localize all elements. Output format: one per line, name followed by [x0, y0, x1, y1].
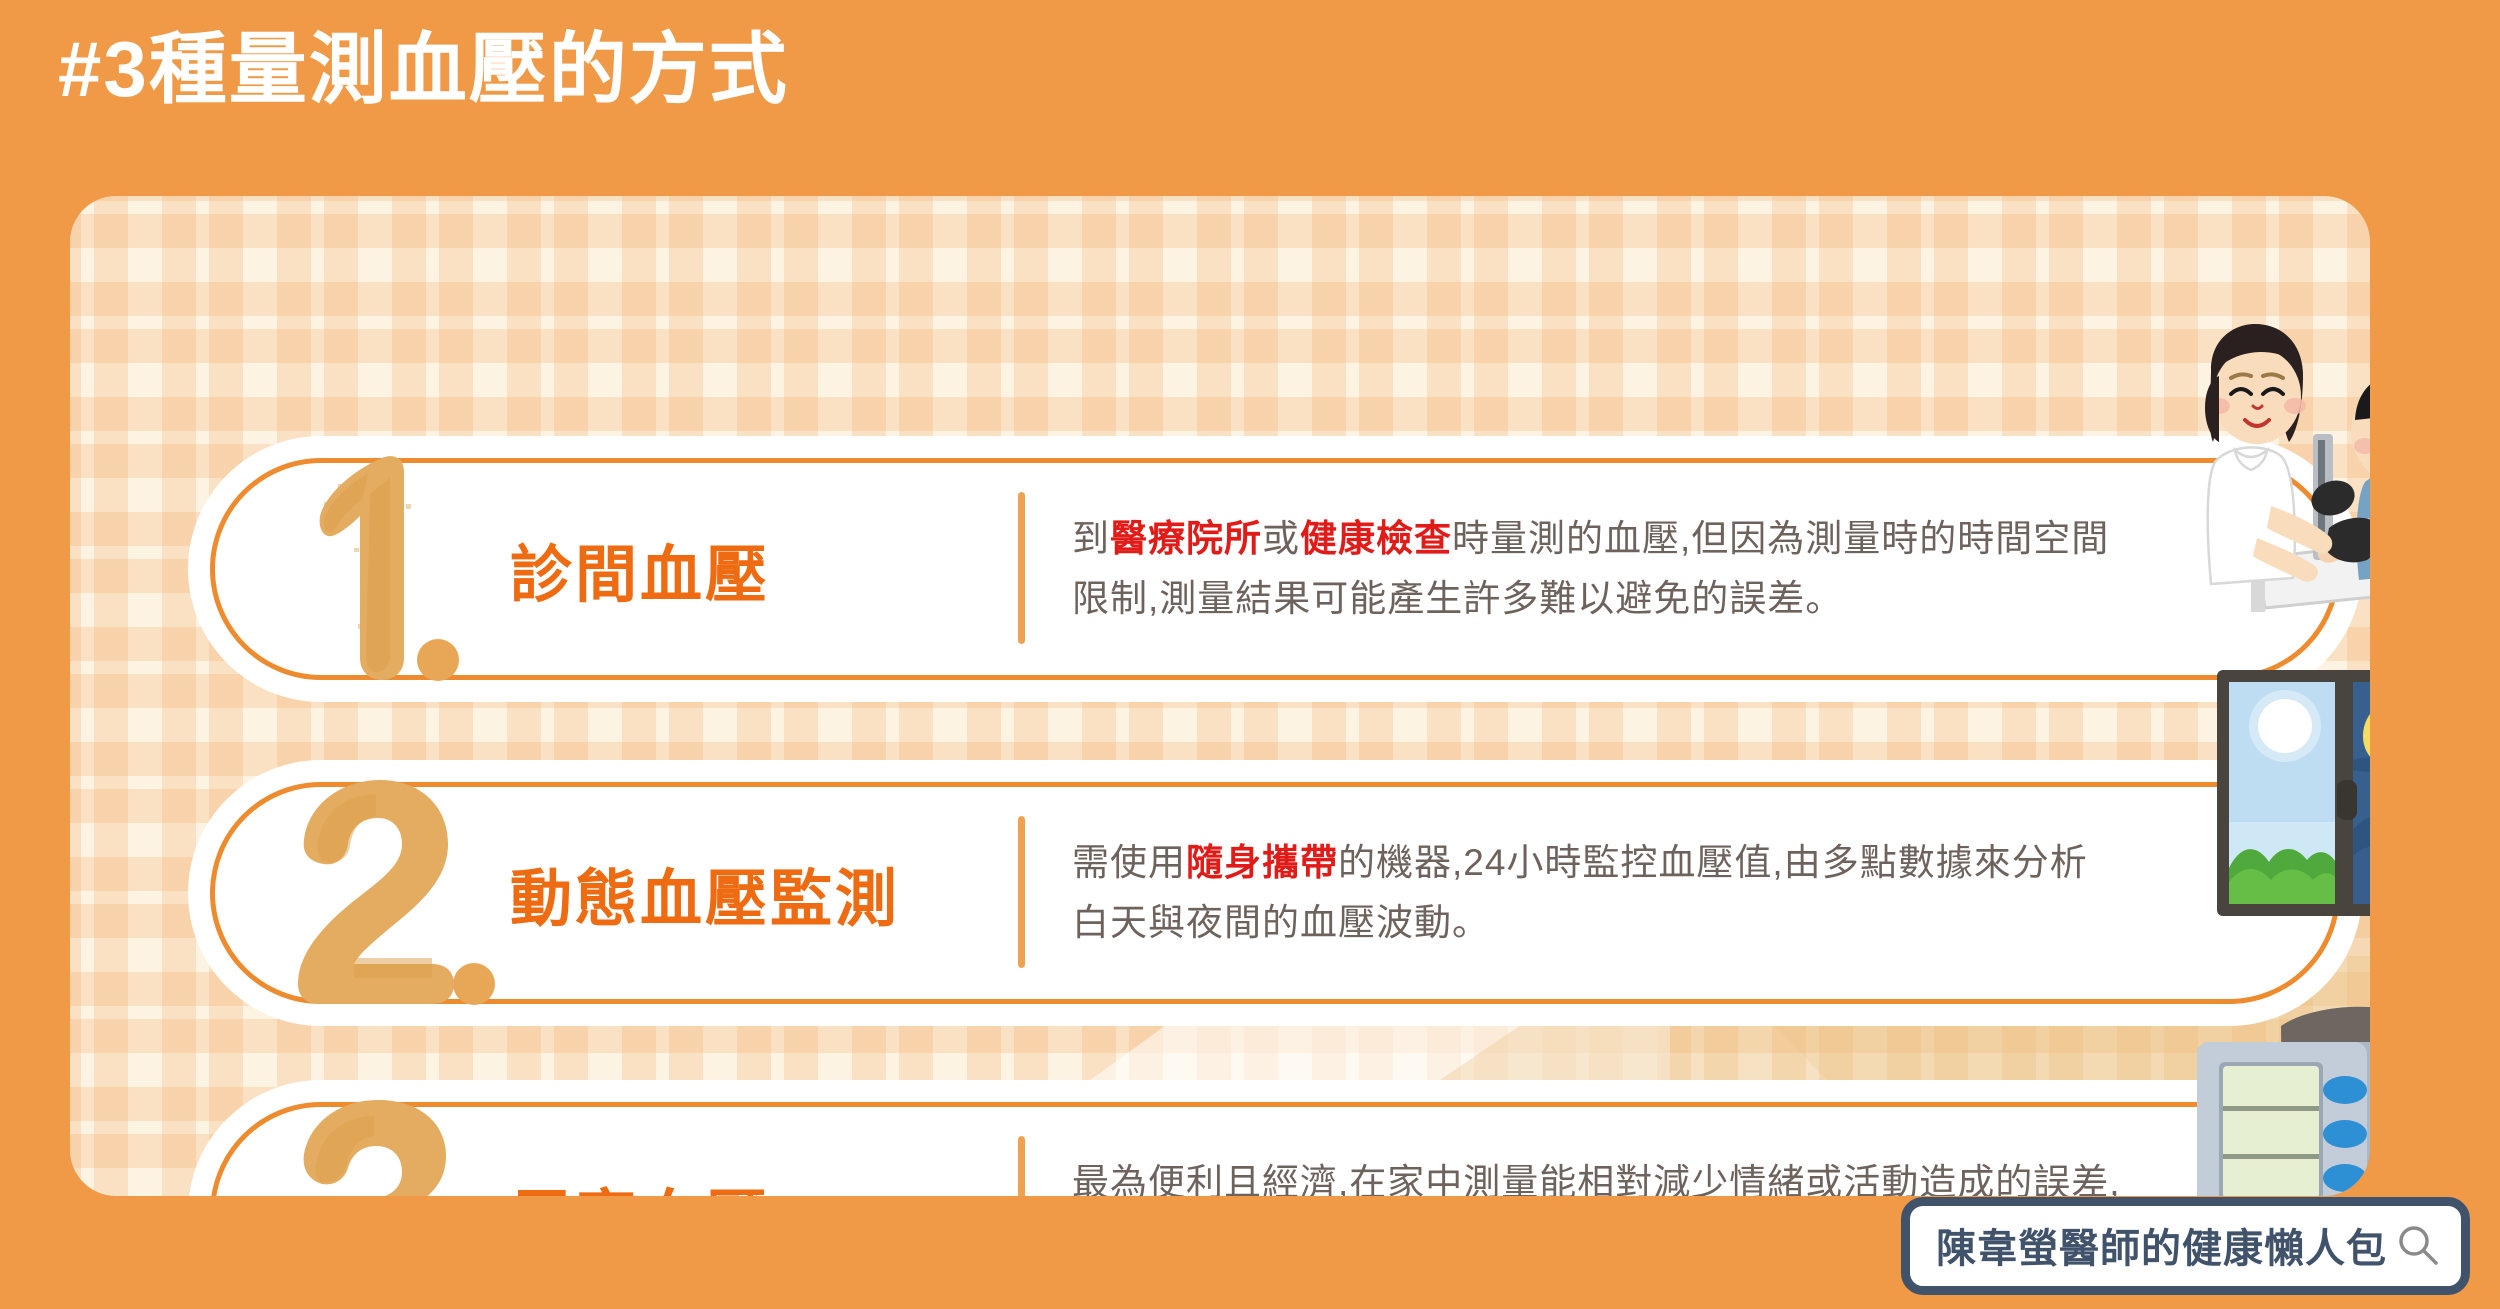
body-segment: 到: [1072, 518, 1110, 559]
card-heading-1: 診間血壓: [510, 524, 770, 614]
card-heading-2: 動態血壓監測: [510, 848, 900, 938]
footer-brand-badge[interactable]: 陳韋螢醫師的健康懶人包: [1901, 1197, 2470, 1295]
body-segment: 最為便利且經濟,在家中測量能相對減少情緒或活動造成的誤差,但要注意是否用正確的方…: [1072, 1162, 2121, 1196]
search-icon: [2397, 1224, 2439, 1266]
card-body-2: 需使用隨身攜帶的機器,24小時監控血壓值,由多點數據來分析白天與夜間的血壓波動。: [1072, 833, 2122, 953]
card-divider: [1018, 1136, 1025, 1196]
footer-brand-text: 陳韋螢醫師的健康懶人包: [1936, 1216, 2387, 1274]
card-body-3: 最為便利且經濟,在家中測量能相對減少情緒或活動造成的誤差,但要注意是否用正確的方…: [1072, 1153, 2122, 1196]
body-segment: 或: [1262, 518, 1300, 559]
card-number-1: [262, 444, 502, 694]
grid-pattern-background: [70, 196, 2370, 1196]
page-title: #3種量測血壓的方式: [58, 30, 789, 108]
body-segment: 需使用: [1072, 842, 1186, 883]
card-divider: [1018, 492, 1025, 644]
body-segment-highlight: 隨身攜帶: [1186, 842, 1338, 883]
content-panel: 診間血壓 到醫療院所或健康檢查時量測的血壓,但因為測量時的時間空間限制,測量結果…: [70, 196, 2370, 1196]
card-heading-3: 居家血壓: [510, 1168, 770, 1196]
body-segment-highlight: 健康檢查: [1300, 518, 1452, 559]
method-card-3[interactable]: 居家血壓 最為便利且經濟,在家中測量能相對減少情緒或活動造成的誤差,但要注意是否…: [210, 1102, 2340, 1196]
card-divider: [1018, 816, 1025, 968]
card-number-2: [262, 768, 502, 1018]
card-number-3: [262, 1088, 502, 1196]
method-card-1[interactable]: 診間血壓 到醫療院所或健康檢查時量測的血壓,但因為測量時的時間空間限制,測量結果…: [210, 458, 2340, 680]
card-body-1: 到醫療院所或健康檢查時量測的血壓,但因為測量時的時間空間限制,測量結果可能產生許…: [1072, 509, 2122, 629]
body-segment-highlight: 醫療院所: [1110, 518, 1262, 559]
method-card-2[interactable]: 動態血壓監測 需使用隨身攜帶的機器,24小時監控血壓值,由多點數據來分析白天與夜…: [210, 782, 2340, 1004]
